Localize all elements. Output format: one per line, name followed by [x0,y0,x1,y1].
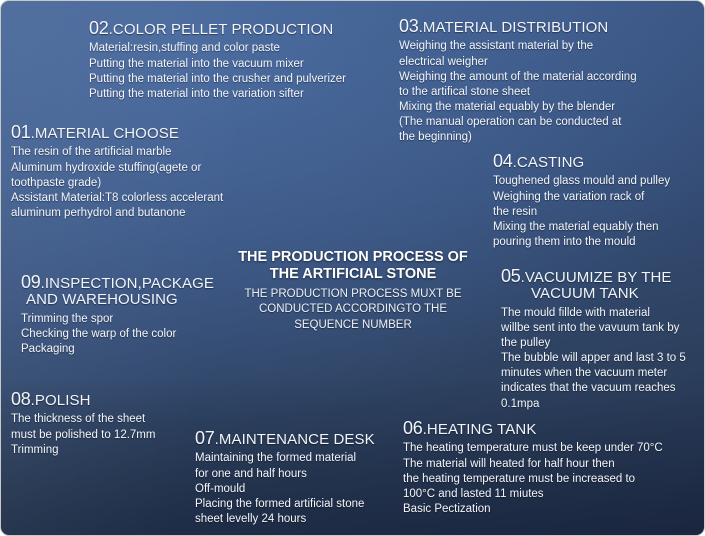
step-number-01: 01 [11,122,31,142]
step-number-04: 04 [493,151,513,171]
step-line: Aluminum hydroxide stuffing(agete or [11,161,223,176]
step-line: Trimming the spor [21,312,214,327]
step-line: Mixing the material equably by the blend… [399,100,637,115]
step-heading-05: 05.VACUUMIZE BY THE VACUUM TANK [501,267,686,303]
step-title-02: COLOR PELLET PRODUCTION [113,21,333,38]
step-line: Mixing the material equably then [493,220,670,235]
step-body-09: Trimming the spor Checking the warp of t… [21,312,214,358]
poster-center-title: THE PRODUCTION PROCESS OF THE ARTIFICIAL… [213,249,493,333]
step-title-07: MAINTENANCE DESK [219,431,375,448]
step-block-09: 09.INSPECTION,PACKAGE AND WAREHOUSING Tr… [21,273,214,357]
step-line: the resin [493,205,670,220]
step-title-05: VACUUMIZE BY THE [525,269,672,286]
step-line: sheet levelly 24 hours [195,512,375,527]
step-block-05: 05.VACUUMIZE BY THE VACUUM TANK The moul… [501,267,686,412]
step-heading-07: 07.MAINTENANCE DESK [195,429,375,448]
step-body-08: The thickness of the sheet must be polis… [11,412,155,458]
step-line: Putting the material into the variation … [89,87,346,102]
step-line: Checking the warp of the color [21,327,214,342]
center-title-main-line-2: THE ARTIFICIAL STONE [213,266,493,283]
center-title-main-line-1: THE PRODUCTION PROCESS OF [213,249,493,266]
step-line: willbe sent into the vavuum tank by [501,321,686,336]
step-line: the heating temperature must be increase… [403,472,663,487]
step-body-05: The mould fillde with material willbe se… [501,306,686,412]
step-title-09-line-2: AND WAREHOUSING [21,292,214,308]
step-number-07: 07 [195,428,215,448]
step-number-03: 03 [399,16,419,36]
step-number-09: 09 [21,272,41,292]
step-number-05: 05 [501,266,521,286]
step-line: aluminum perhydrol and butanone [11,206,223,221]
step-line: for one and half hours [195,467,375,482]
step-block-07: 07.MAINTENANCE DESK Maintaining the form… [195,429,375,527]
step-block-01: 01.MATERIAL CHOOSE The resin of the arti… [11,123,223,221]
step-line: Maintaining the formed material [195,451,375,466]
step-line: The bubble will apper and last 3 to 5 [501,351,686,366]
step-line: Putting the material into the crusher an… [89,72,346,87]
step-heading-04: 04.CASTING [493,152,670,171]
step-line: The resin of the artificial marble [11,145,223,160]
step-heading-03: 03.MATERIAL DISTRIBUTION [399,17,637,36]
step-line: Toughened glass mould and pulley [493,174,670,189]
step-title-05-line-2: VACUUM TANK [501,286,686,302]
center-title-sub-line-1: THE PRODUCTION PROCESS MUXT BE [213,287,493,302]
step-number-06: 06 [403,418,423,438]
step-line: The heating temperature must be keep und… [403,441,663,456]
step-block-02: 02.COLOR PELLET PRODUCTION Material:resi… [89,19,346,102]
step-line: The material will heated for half hour t… [403,457,663,472]
step-body-06: The heating temperature must be keep und… [403,441,663,517]
step-block-04: 04.CASTING Toughened glass mould and pul… [493,152,670,250]
step-line: The mould fillde with material [501,306,686,321]
step-line: Off-mould [195,482,375,497]
step-line: Putting the material into the vacuum mix… [89,57,346,72]
center-title-main: THE PRODUCTION PROCESS OF THE ARTIFICIAL… [213,249,493,283]
step-line: pouring them into the mould [493,235,670,250]
step-title-09: INSPECTION,PACKAGE [45,275,214,292]
step-line: indicates that the vacuum reaches [501,381,686,396]
step-line: electrical weigher [399,55,637,70]
step-line: 100°C and lasted 11 miutes [403,487,663,502]
step-line: (The manual operation can be conducted a… [399,115,637,130]
step-line: 0.1mpa [501,397,686,412]
step-line: Basic Pectization [403,502,663,517]
center-title-sub-line-2: CONDUCTED ACCORDINGTO THE [213,302,493,317]
center-title-sub: THE PRODUCTION PROCESS MUXT BE CONDUCTED… [213,287,493,333]
step-line: Weighing the amount of the material acco… [399,70,637,85]
step-line: The thickness of the sheet [11,412,155,427]
step-heading-09: 09.INSPECTION,PACKAGE AND WAREHOUSING [21,273,214,309]
step-line: Material:resin,stuffing and color paste [89,41,346,56]
step-line: minutes when the vacuum meter [501,366,686,381]
step-block-06: 06.HEATING TANK The heating temperature … [403,419,663,517]
step-heading-02: 02.COLOR PELLET PRODUCTION [89,19,346,38]
step-line: Weighing the variation rack of [493,190,670,205]
step-block-08: 08.POLISH The thickness of the sheet mus… [11,390,155,458]
process-poster: 02.COLOR PELLET PRODUCTION Material:resi… [0,0,705,536]
step-line: Packaging [21,342,214,357]
step-heading-01: 01.MATERIAL CHOOSE [11,123,223,142]
center-title-sub-line-3: SEQUENCE NUMBER [213,318,493,333]
step-block-03: 03.MATERIAL DISTRIBUTION Weighing the as… [399,17,637,146]
step-body-01: The resin of the artificial marble Alumi… [11,145,223,221]
step-title-01: MATERIAL CHOOSE [35,125,179,142]
step-body-04: Toughened glass mould and pulley Weighin… [493,174,670,250]
step-number-02: 02 [89,18,109,38]
step-heading-06: 06.HEATING TANK [403,419,663,438]
step-title-06: HEATING TANK [427,421,537,438]
step-body-02: Material:resin,stuffing and color paste … [89,41,346,102]
step-title-03: MATERIAL DISTRIBUTION [423,19,608,36]
step-line: Placing the formed artificial stone [195,497,375,512]
step-line: to the artifical stone sheet [399,85,637,100]
step-body-03: Weighing the assistant material by the e… [399,39,637,145]
step-body-07: Maintaining the formed material for one … [195,451,375,527]
step-line: the beginning) [399,130,637,145]
step-title-04: CASTING [517,154,584,171]
step-line: the pulley [501,336,686,351]
step-line: Trimming [11,443,155,458]
step-line: Assistant Material:T8 colorless accelera… [11,191,223,206]
step-line: must be polished to 12.7mm [11,428,155,443]
step-heading-08: 08.POLISH [11,390,155,409]
step-title-08: POLISH [35,392,91,409]
step-number-08: 08 [11,389,31,409]
step-line: Weighing the assistant material by the [399,39,637,54]
step-line: toothpaste grade) [11,176,223,191]
